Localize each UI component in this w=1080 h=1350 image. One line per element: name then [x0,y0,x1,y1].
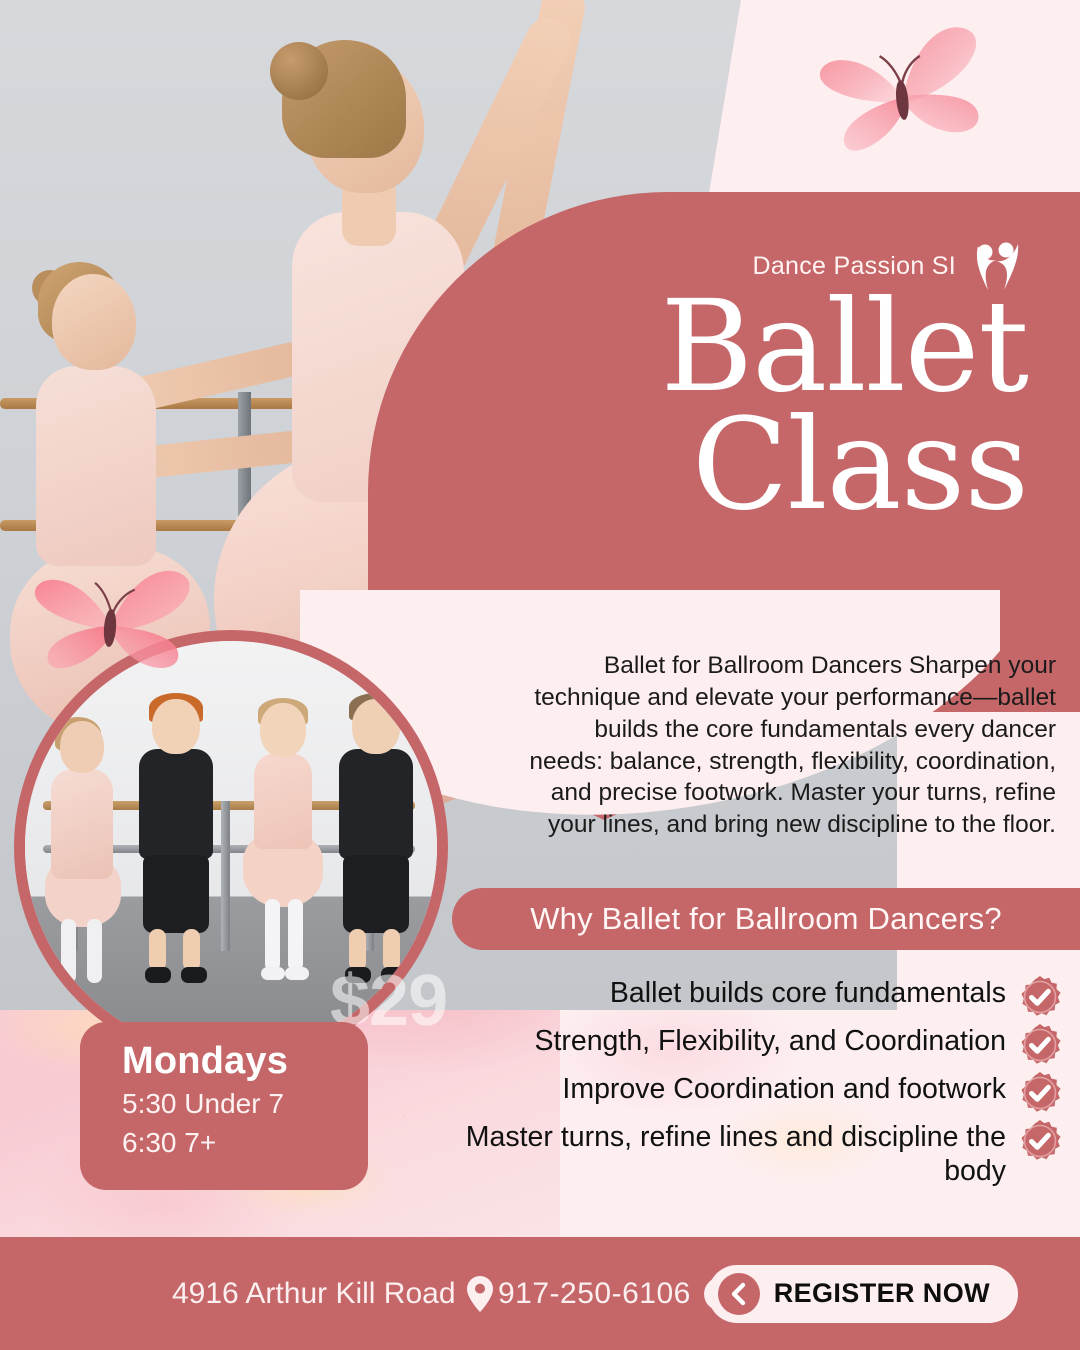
check-rosette-icon [1018,1023,1062,1067]
leotard [51,769,113,879]
list-item: Ballet builds core fundamentals [402,975,1062,1019]
leg [288,899,303,971]
benefit-label: Ballet builds core fundamentals [610,975,1006,1011]
register-now-button[interactable]: REGISTER NOW [708,1265,1018,1323]
footer-bar: 4916 Arthur Kill Road 917-250-6106 [0,1237,1080,1350]
phone-block[interactable]: 917-250-6106 [498,1276,739,1312]
head [352,699,400,754]
schedule-day: Mondays [122,1040,368,1084]
leotard [254,753,312,849]
list-item: Master turns, refine lines and disciplin… [402,1119,1062,1188]
tshirt [339,749,413,859]
phone-label: 917-250-6106 [498,1277,691,1311]
dancer-head [52,274,136,370]
leg [149,929,166,971]
barre-post [221,801,230,951]
register-now-label: REGISTER NOW [774,1278,990,1309]
list-item: Improve Coordination and footwork [402,1071,1062,1115]
leg [87,919,102,983]
shorts [143,855,209,933]
head [152,699,200,754]
check-rosette-icon [1018,1071,1062,1115]
check-rosette-icon [1018,1119,1062,1163]
map-pin-icon [466,1275,494,1313]
child-dancer [243,703,323,991]
chevron-left-icon [718,1273,760,1315]
leg [265,899,280,971]
butterfly-icon [805,13,1000,181]
benefit-label: Master turns, refine lines and disciplin… [416,1119,1006,1188]
dancer-hair-bun [270,42,328,100]
check-rosette-icon [1018,975,1062,1019]
child-dancer [133,699,219,991]
flyer-canvas: Dance Passion SI Ballet Class [0,0,1080,1350]
schedule-time-1: 5:30 Under 7 [122,1084,368,1124]
tshirt [139,749,213,859]
benefit-label: Strength, Flexibility, and Coordination [534,1023,1006,1059]
ballet-shoe [285,967,309,980]
page-title: Ballet Class [408,288,1028,525]
leg [61,919,76,983]
child-dancer [43,721,121,991]
schedule-card: Mondays 5:30 Under 7 6:30 7+ [80,1022,368,1190]
title-line-2: Class [408,406,1028,524]
butterfly-icon [19,550,201,706]
address-label: 4916 Arthur Kill Road [172,1277,456,1311]
ballet-shoe [181,967,207,983]
why-ballet-heading: Why Ballet for Ballroom Dancers? [530,901,1002,937]
leg [183,929,200,971]
head [60,721,104,773]
schedule-time-2: 6:30 7+ [122,1123,368,1163]
head [260,703,306,757]
ballet-shoe [145,967,171,983]
address-block[interactable]: 4916 Arthur Kill Road [172,1275,494,1313]
list-item: Strength, Flexibility, and Coordination [402,1023,1062,1067]
benefits-list: Ballet builds core fundamentals Strength… [402,975,1062,1192]
ballet-shoe [261,967,285,980]
shorts [343,855,409,933]
description-paragraph: Ballet for Ballroom Dancers Sharpen your… [526,650,1056,841]
benefit-label: Improve Coordination and footwork [562,1071,1006,1107]
child-dancer [333,699,419,991]
why-ballet-banner: Why Ballet for Ballroom Dancers? [452,888,1080,950]
dancer-torso [36,366,156,566]
